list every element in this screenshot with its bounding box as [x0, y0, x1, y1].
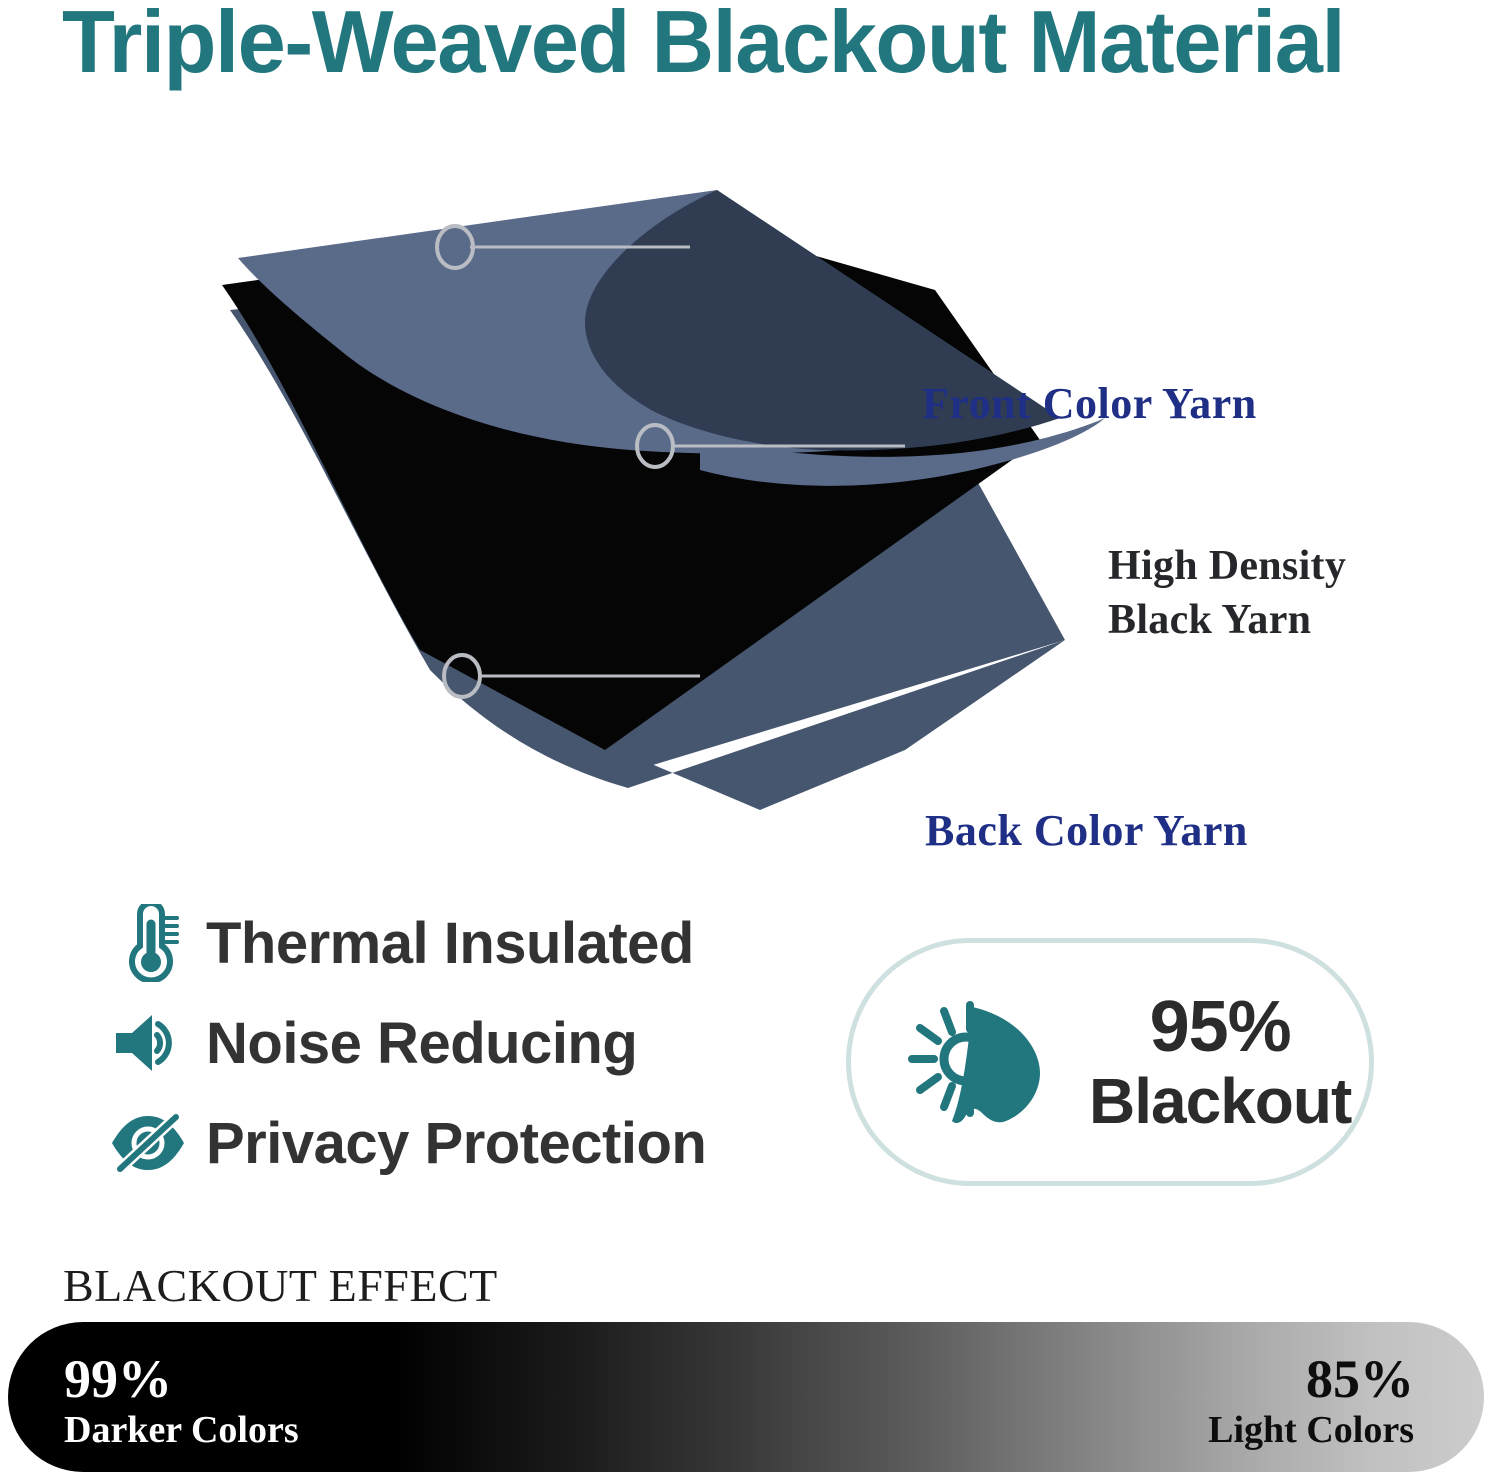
fabric-layers-diagram: Front Color Yarn High Density Black Yarn… — [0, 150, 1492, 830]
blackout-effect-heading: BLACKOUT EFFECT — [63, 1259, 498, 1312]
badge-word: Blackout — [1089, 1069, 1351, 1133]
blackout-stat-darker-colors: 99% Darker Colors — [64, 1352, 299, 1452]
stat-percent: 99% — [64, 1352, 299, 1406]
blackout-stat-light-colors: 85% Light Colors — [1208, 1352, 1414, 1452]
feature-item-privacy-protection: Privacy Protection — [106, 1093, 806, 1193]
features-list: Thermal Insulated Noise Reducing Privacy… — [106, 893, 806, 1193]
page-title: Triple-Weaved Blackout Material — [62, 0, 1441, 90]
feature-label: Privacy Protection — [206, 1110, 706, 1177]
stat-caption: Darker Colors — [64, 1410, 299, 1452]
thermometer-icon — [106, 901, 190, 985]
callout-label-front-color-yarn: Front Color Yarn — [922, 378, 1257, 429]
feature-label: Thermal Insulated — [206, 910, 694, 977]
feature-item-thermal-insulated: Thermal Insulated — [106, 893, 806, 993]
callout-label-back-color-yarn: Back Color Yarn — [925, 805, 1248, 856]
blackout-percentage-badge: 95% Blackout — [846, 938, 1374, 1186]
callout-label-line-2: Black Yarn — [1108, 594, 1346, 648]
fabric-layers-illustration — [0, 150, 1492, 830]
blackout-effect-gradient-bar: 99% Darker Colors 85% Light Colors — [8, 1322, 1484, 1472]
stat-percent: 85% — [1208, 1352, 1414, 1406]
feature-item-noise-reducing: Noise Reducing — [106, 993, 806, 1093]
stat-caption: Light Colors — [1208, 1410, 1414, 1452]
speaker-sound-icon — [106, 1001, 190, 1085]
callout-label-line-1: High Density — [1108, 540, 1346, 594]
callout-label-high-density-black-yarn: High Density Black Yarn — [1108, 540, 1346, 648]
eye-slash-icon — [106, 1101, 190, 1185]
badge-text: 95% Blackout — [1089, 991, 1351, 1133]
feature-label: Noise Reducing — [206, 1010, 637, 1077]
sun-blocked-curtain-icon — [895, 977, 1065, 1147]
badge-percent: 95% — [1089, 991, 1351, 1063]
